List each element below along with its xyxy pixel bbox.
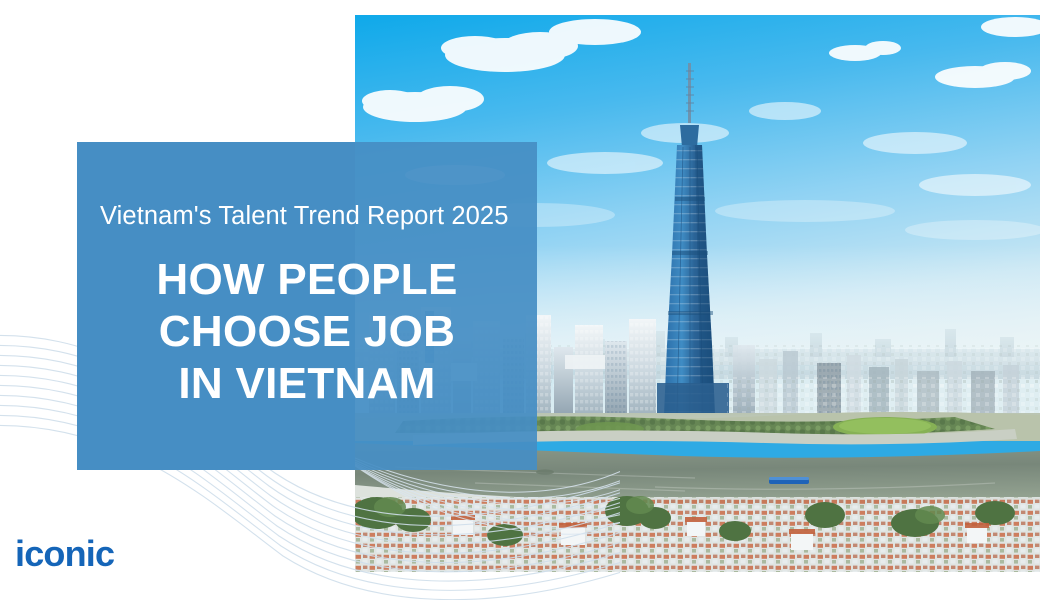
slide-canvas: Vietnam's Talent Trend Report 2025 HOW P… <box>0 0 1040 600</box>
headline-line-2: CHOOSE JOB <box>77 306 537 358</box>
foreground-residential <box>355 485 1040 572</box>
title-content-block: Vietnam's Talent Trend Report 2025 HOW P… <box>77 142 537 470</box>
report-headline: HOW PEOPLE CHOOSE JOB IN VIETNAM <box>77 254 537 410</box>
headline-line-3: IN VIETNAM <box>77 358 537 410</box>
river-barge <box>769 477 809 484</box>
report-subtitle: Vietnam's Talent Trend Report 2025 <box>100 202 520 231</box>
iconic-logo: iconic <box>15 533 114 575</box>
headline-line-1: HOW PEOPLE <box>77 254 537 306</box>
